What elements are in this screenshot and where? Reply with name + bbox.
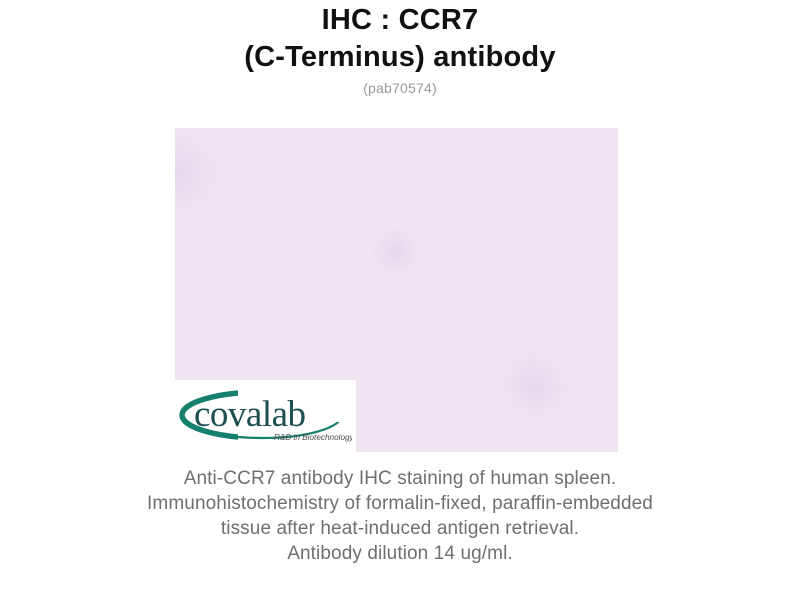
figure-caption: Anti-CCR7 antibody IHC staining of human…: [0, 466, 800, 566]
caption-line-2: Immunohistochemistry of formalin-fixed, …: [0, 491, 800, 516]
logo-wordmark: covalab: [194, 394, 306, 435]
product-image-card: IHC : CCR7 (C-Terminus) antibody (pab705…: [0, 0, 800, 600]
logo-tagline: R&D in Biotechnology: [274, 433, 352, 442]
caption-line-1: Anti-CCR7 antibody IHC staining of human…: [0, 466, 800, 491]
caption-line-3: tissue after heat-induced antigen retrie…: [0, 516, 800, 541]
caption-line-4: Antibody dilution 14 ug/ml.: [0, 541, 800, 566]
page-title-line-2: (C-Terminus) antibody: [0, 39, 800, 76]
catalog-number: (pab70574): [0, 78, 800, 98]
covalab-logo-svg: covalab R&D in Biotechnology: [176, 388, 352, 446]
title-block: IHC : CCR7 (C-Terminus) antibody (pab705…: [0, 2, 800, 98]
covalab-logo: covalab R&D in Biotechnology: [168, 380, 356, 452]
page-title-line-1: IHC : CCR7: [0, 2, 800, 39]
